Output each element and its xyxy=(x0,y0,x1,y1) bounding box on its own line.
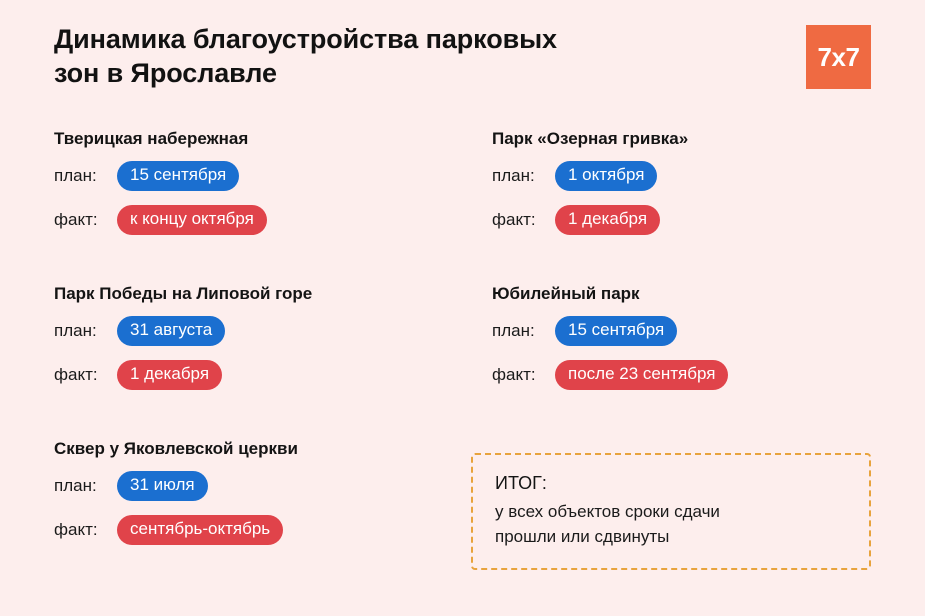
fact-date-pill: 1 декабря xyxy=(117,360,222,390)
logo-text: 7x7 xyxy=(818,44,860,70)
fact-row: факт: 1 декабря xyxy=(54,357,454,393)
fact-row: факт: к концу октября xyxy=(54,202,454,238)
fact-date-pill: к концу октября xyxy=(117,205,267,235)
fact-label: факт: xyxy=(54,210,117,230)
page-title: Динамика благоустройства парковых зон в … xyxy=(54,22,694,90)
fact-row: факт: 1 декабря xyxy=(492,202,892,238)
plan-date-pill: 1 октября xyxy=(555,161,657,191)
plan-label: план: xyxy=(54,166,117,186)
plan-row: план: 1 октября xyxy=(492,158,892,194)
logo-badge: 7x7 xyxy=(806,25,871,89)
summary-title: ИТОГ: xyxy=(495,471,847,495)
fact-label: факт: xyxy=(492,210,555,230)
plan-row: план: 15 сентября xyxy=(492,313,892,349)
plan-label: план: xyxy=(492,321,555,341)
plan-date-pill: 31 июля xyxy=(117,471,208,501)
summary-box: ИТОГ: у всех объектов сроки сдачи прошли… xyxy=(471,453,871,570)
plan-row: план: 31 июля xyxy=(54,468,454,504)
plan-date-pill: 31 августа xyxy=(117,316,225,346)
header: Динамика благоустройства парковых зон в … xyxy=(54,22,871,102)
fact-label: факт: xyxy=(54,365,117,385)
fact-row: факт: сентябрь-октябрь xyxy=(54,512,454,548)
fact-date-pill: 1 декабря xyxy=(555,205,660,235)
park-block: Парк «Озерная гривка» план: 1 октября фа… xyxy=(492,128,892,238)
plan-row: план: 31 августа xyxy=(54,313,454,349)
fact-label: факт: xyxy=(492,365,555,385)
page-title-line-2: зон в Ярославле xyxy=(54,58,277,88)
park-block: Тверицкая набережная план: 15 сентября ф… xyxy=(54,128,454,238)
plan-date-pill: 15 сентября xyxy=(555,316,677,346)
plan-date-pill: 15 сентября xyxy=(117,161,239,191)
infographic-root: Динамика благоустройства парковых зон в … xyxy=(0,0,925,616)
fact-label: факт: xyxy=(54,520,117,540)
park-name: Парк «Озерная гривка» xyxy=(492,128,892,150)
park-block: Парк Победы на Липовой горе план: 31 авг… xyxy=(54,283,454,393)
plan-row: план: 15 сентября xyxy=(54,158,454,194)
plan-label: план: xyxy=(492,166,555,186)
fact-row: факт: после 23 сентября xyxy=(492,357,892,393)
park-name: Юбилейный парк xyxy=(492,283,892,305)
park-name: Сквер у Яковлевской церкви xyxy=(54,438,454,460)
page-title-line-1: Динамика благоустройства парковых xyxy=(54,24,557,54)
park-block: Юбилейный парк план: 15 сентября факт: п… xyxy=(492,283,892,393)
park-block: Сквер у Яковлевской церкви план: 31 июля… xyxy=(54,438,454,548)
fact-date-pill: после 23 сентября xyxy=(555,360,728,390)
fact-date-pill: сентябрь-октябрь xyxy=(117,515,283,545)
summary-line-2: прошли или сдвинуты xyxy=(495,524,847,549)
summary-line-1: у всех объектов сроки сдачи xyxy=(495,499,847,524)
plan-label: план: xyxy=(54,321,117,341)
plan-label: план: xyxy=(54,476,117,496)
park-name: Тверицкая набережная xyxy=(54,128,454,150)
park-name: Парк Победы на Липовой горе xyxy=(54,283,454,305)
